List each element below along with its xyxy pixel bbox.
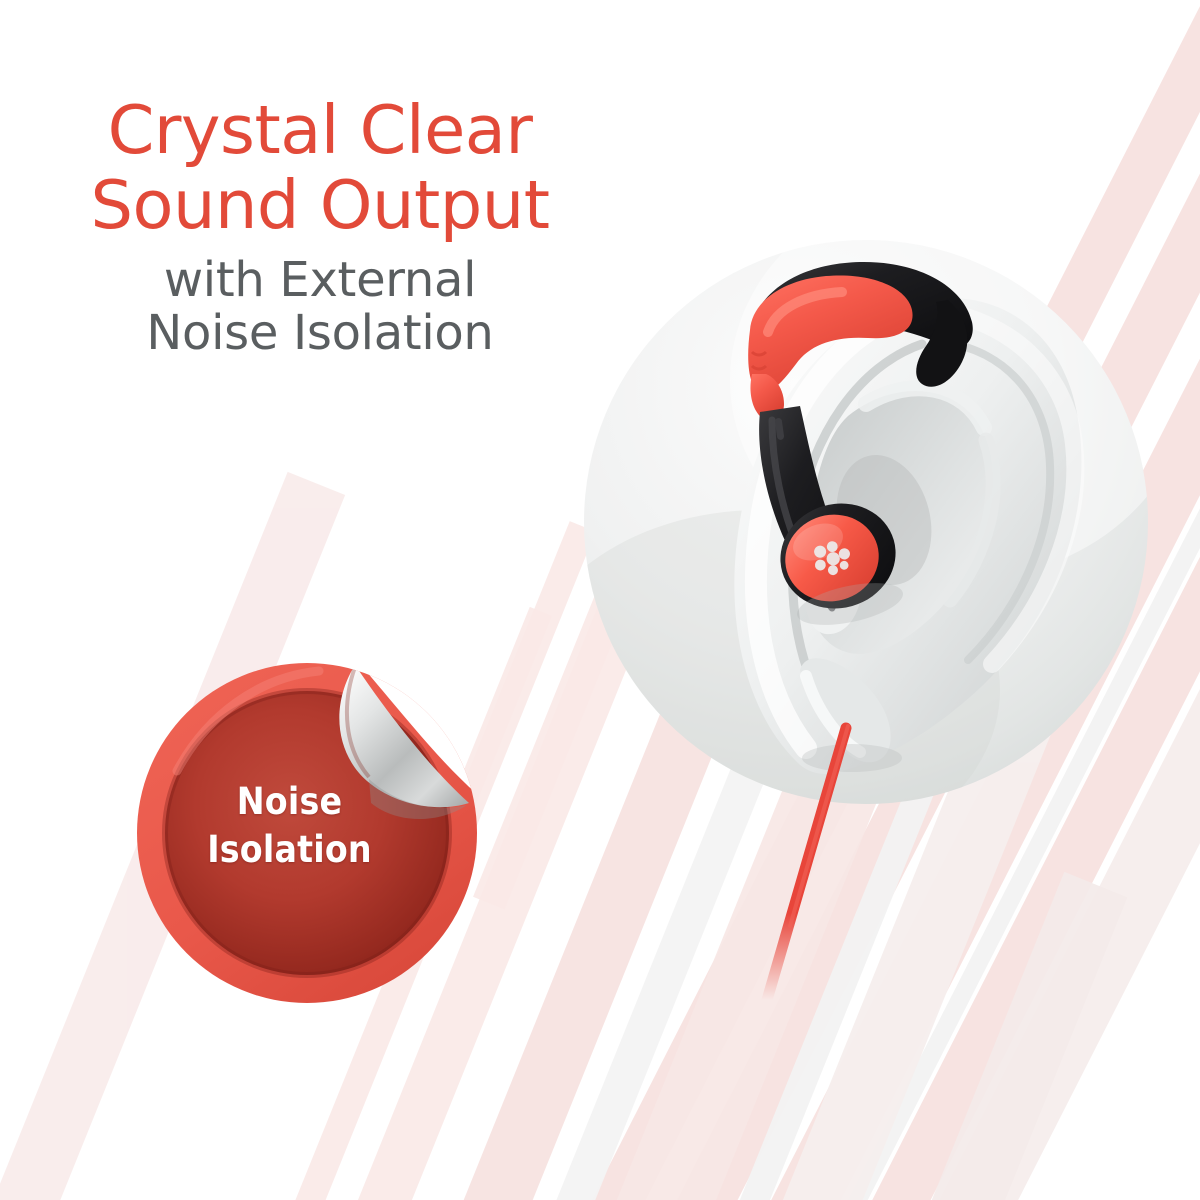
noise-isolation-badge: Noise Isolation <box>137 663 478 1004</box>
copy-block: Crystal Clear Sound Output with External… <box>0 96 640 361</box>
headline: Crystal Clear Sound Output <box>0 96 640 240</box>
headline-line-2: Sound Output <box>0 171 640 239</box>
subheadline: with External Noise Isolation <box>0 254 640 362</box>
headline-line-1: Crystal Clear <box>0 96 640 164</box>
marketing-banner: Crystal Clear Sound Output with External… <box>0 0 1200 1200</box>
subheadline-line-2: Noise Isolation <box>0 307 640 361</box>
subheadline-line-1: with External <box>0 254 640 308</box>
badge-graphic <box>137 663 478 1004</box>
